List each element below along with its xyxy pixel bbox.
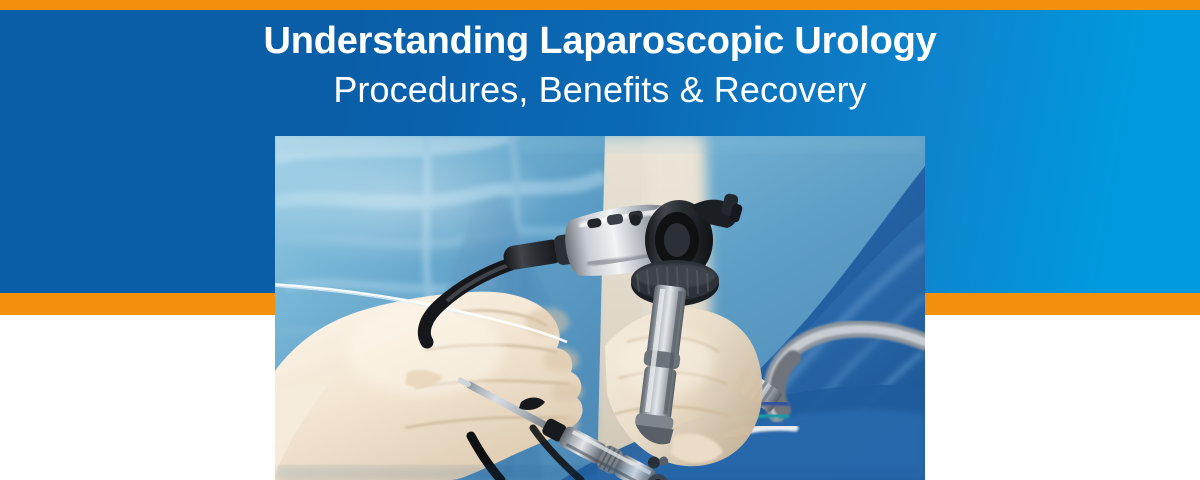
headline-group: Understanding Laparoscopic Urology Proce…	[0, 18, 1200, 114]
hero-photo	[275, 136, 925, 480]
orange-rule-top	[0, 0, 1200, 10]
page-subtitle: Procedures, Benefits & Recovery	[0, 66, 1200, 114]
laparoscopic-surgery-photo	[275, 136, 925, 480]
banner-hero: Understanding Laparoscopic Urology Proce…	[0, 0, 1200, 480]
page-title: Understanding Laparoscopic Urology	[0, 18, 1200, 64]
